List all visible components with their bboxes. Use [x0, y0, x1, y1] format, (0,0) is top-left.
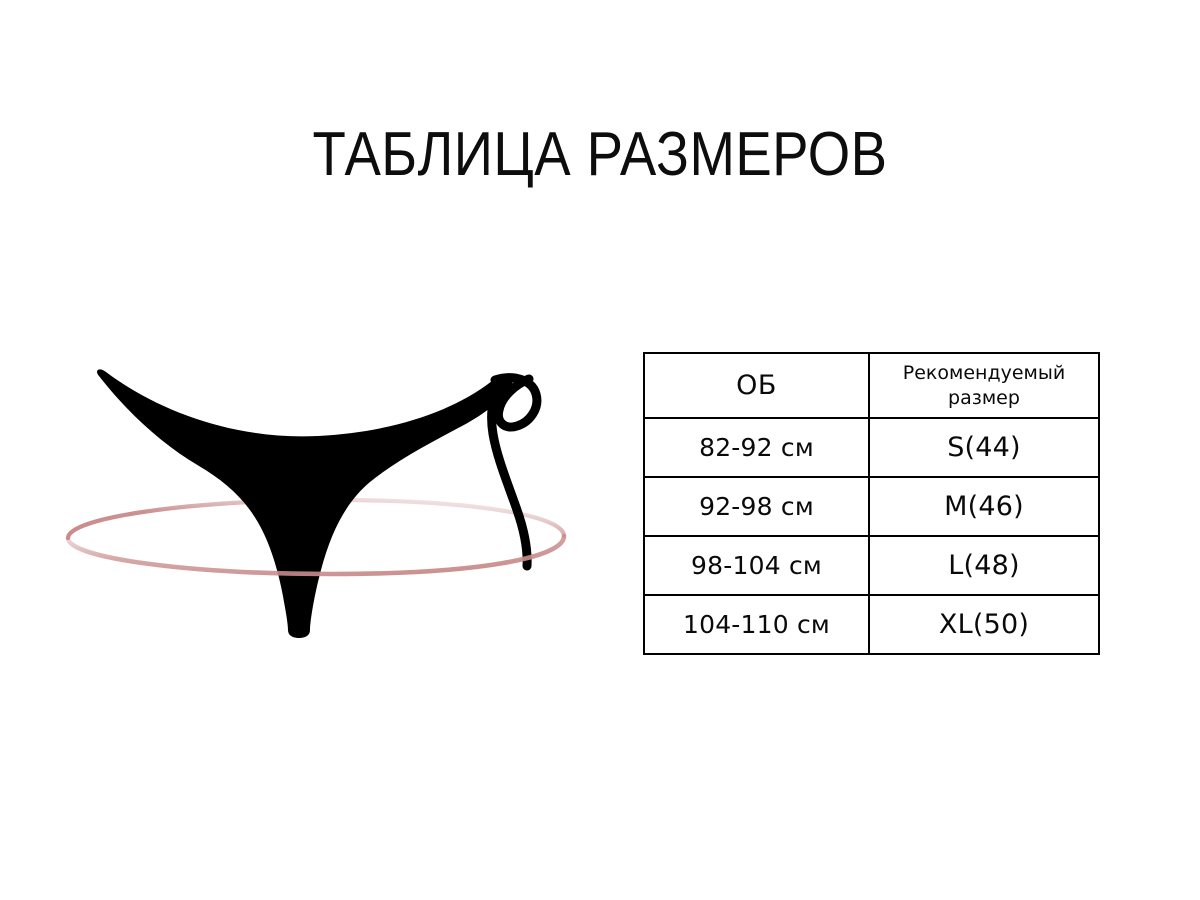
column-header-ob: ОБ [644, 353, 869, 418]
cell-measurement: 98-104 см [644, 536, 869, 595]
page-title: ТАБЛИЦА РАЗМЕРОВ [72, 118, 1128, 192]
size-chart-page: ТАБЛИЦА РАЗМЕРОВ [0, 0, 1200, 900]
cell-measurement: 92-98 см [644, 477, 869, 536]
garment-illustration [40, 350, 610, 660]
column-header-size-line2: размер [874, 386, 1094, 411]
cell-measurement: 82-92 см [644, 418, 869, 477]
cell-size: XL(50) [869, 595, 1099, 654]
column-header-size: Рекомендуемый размер [869, 353, 1099, 418]
table-row: 92-98 см M(46) [644, 477, 1099, 536]
table-header-row: ОБ Рекомендуемый размер [644, 353, 1099, 418]
table-row: 98-104 см L(48) [644, 536, 1099, 595]
column-header-size-line1: Рекомендуемый [874, 361, 1094, 386]
table-row: 82-92 см S(44) [644, 418, 1099, 477]
cell-measurement: 104-110 см [644, 595, 869, 654]
size-table: ОБ Рекомендуемый размер 82-92 см S(44) 9… [643, 352, 1100, 655]
cell-size: S(44) [869, 418, 1099, 477]
cell-size: L(48) [869, 536, 1099, 595]
thong-panty-silhouette [40, 350, 610, 660]
size-table-container: ОБ Рекомендуемый размер 82-92 см S(44) 9… [643, 352, 1098, 655]
cell-size: M(46) [869, 477, 1099, 536]
table-row: 104-110 см XL(50) [644, 595, 1099, 654]
side-tie-bow [492, 378, 537, 566]
